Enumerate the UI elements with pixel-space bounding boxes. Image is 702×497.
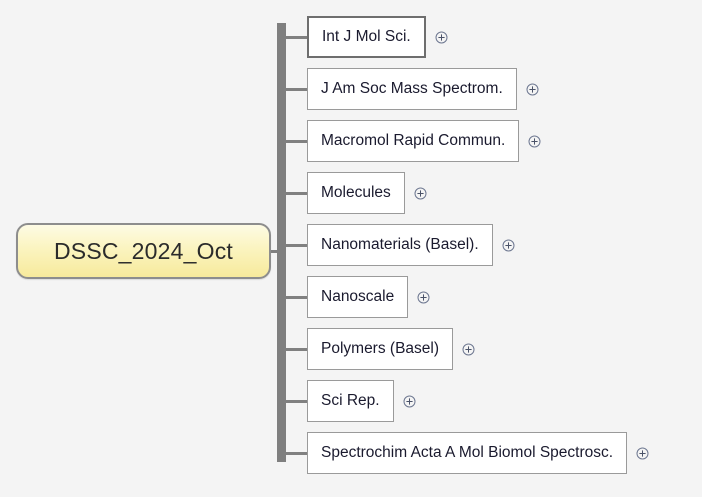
plus-circle-icon[interactable] (462, 343, 475, 356)
branch-node[interactable]: Nanomaterials (Basel). (307, 224, 493, 266)
branch-node[interactable]: J Am Soc Mass Spectrom. (307, 68, 517, 110)
branch-row: Int J Mol Sci. (284, 16, 448, 58)
branch-node-label: Nanomaterials (Basel). (321, 237, 479, 253)
root-node-label: DSSC_2024_Oct (54, 238, 233, 265)
branch-node-label: Spectrochim Acta A Mol Biomol Spectrosc. (321, 445, 613, 461)
branch-node-label: Macromol Rapid Commun. (321, 133, 505, 149)
plus-circle-icon[interactable] (414, 187, 427, 200)
branch-row: Molecules (284, 172, 427, 214)
branch-node[interactable]: Spectrochim Acta A Mol Biomol Spectrosc. (307, 432, 627, 474)
plus-circle-icon[interactable] (636, 447, 649, 460)
branch-connector (284, 400, 307, 403)
branch-row: Polymers (Basel) (284, 328, 475, 370)
branch-node-label: Polymers (Basel) (321, 341, 439, 357)
branch-connector (284, 296, 307, 299)
plus-circle-icon[interactable] (403, 395, 416, 408)
root-node[interactable]: DSSC_2024_Oct (16, 223, 271, 279)
branch-connector (284, 452, 307, 455)
plus-circle-icon[interactable] (502, 239, 515, 252)
branch-node[interactable]: Nanoscale (307, 276, 408, 318)
branch-row: Macromol Rapid Commun. (284, 120, 541, 162)
branch-row: Nanomaterials (Basel). (284, 224, 515, 266)
plus-circle-icon[interactable] (417, 291, 430, 304)
branch-row: J Am Soc Mass Spectrom. (284, 68, 539, 110)
plus-circle-icon[interactable] (528, 135, 541, 148)
branch-node-label: J Am Soc Mass Spectrom. (321, 81, 503, 97)
branch-connector (284, 140, 307, 143)
plus-circle-icon[interactable] (526, 83, 539, 96)
branch-connector (284, 244, 307, 247)
branch-node-label: Nanoscale (321, 289, 394, 305)
branch-node[interactable]: Polymers (Basel) (307, 328, 453, 370)
branch-connector (284, 88, 307, 91)
branch-connector (284, 192, 307, 195)
branch-node[interactable]: Sci Rep. (307, 380, 394, 422)
branch-row: Spectrochim Acta A Mol Biomol Spectrosc. (284, 432, 649, 474)
branch-connector (284, 36, 307, 39)
mindmap-canvas: DSSC_2024_Oct Int J Mol Sci.J Am Soc Mas… (0, 0, 702, 497)
branch-node[interactable]: Int J Mol Sci. (307, 16, 426, 58)
branch-row: Nanoscale (284, 276, 430, 318)
branch-connector (284, 348, 307, 351)
branch-node-label: Molecules (321, 185, 391, 201)
branch-row: Sci Rep. (284, 380, 416, 422)
branch-node-label: Sci Rep. (321, 393, 380, 409)
plus-circle-icon[interactable] (435, 31, 448, 44)
branch-node[interactable]: Molecules (307, 172, 405, 214)
branch-node[interactable]: Macromol Rapid Commun. (307, 120, 519, 162)
branch-node-label: Int J Mol Sci. (322, 29, 411, 45)
